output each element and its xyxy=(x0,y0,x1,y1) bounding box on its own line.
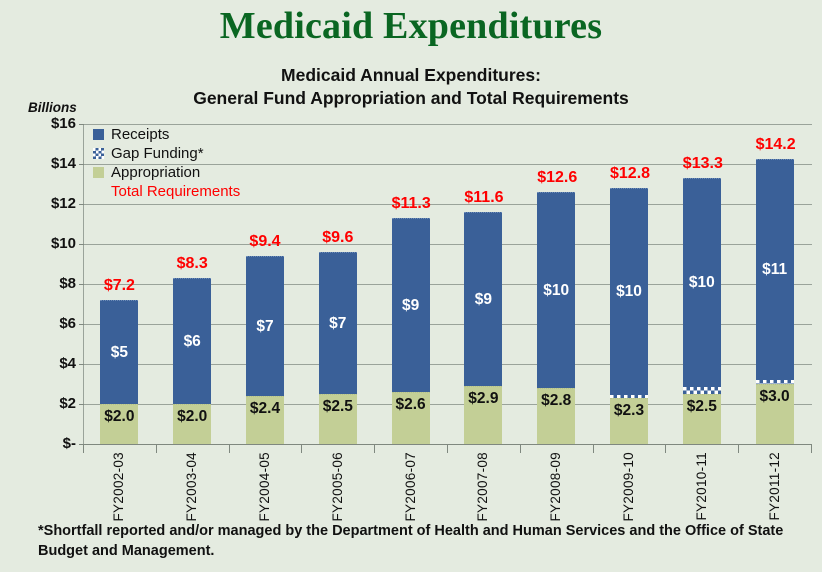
bar-label-appropriation: $2.0 xyxy=(173,408,211,426)
x-axis-tick xyxy=(665,444,666,453)
bar-label-total-requirements: $12.6 xyxy=(537,169,575,187)
y-axis-tick-label: $8 xyxy=(28,275,76,292)
bar-label-total-requirements: $7.2 xyxy=(100,277,138,295)
bar-label-receipts: $7 xyxy=(319,315,357,333)
x-axis-tick xyxy=(447,444,448,453)
y-axis-tick-label: $10 xyxy=(28,235,76,252)
legend-label: Gap Funding* xyxy=(111,144,204,163)
y-axis-labels: $-$2$4$6$8$10$12$14$16 xyxy=(22,124,76,444)
bar-label-appropriation: $2.4 xyxy=(246,400,284,418)
legend-item-total-requirements[interactable]: Total Requirements xyxy=(93,182,240,201)
bar-label-receipts: $9 xyxy=(464,291,502,309)
x-axis-label-fy2007-08: FY2007-08 xyxy=(475,452,490,522)
y-axis-tick xyxy=(79,324,84,325)
bar-label-total-requirements: $9.4 xyxy=(246,233,284,251)
y-axis-tick xyxy=(79,364,84,365)
y-axis-tick-label: $6 xyxy=(28,315,76,332)
x-axis-label-fy2009-10: FY2009-10 xyxy=(621,452,636,522)
bar-label-total-requirements: $8.3 xyxy=(173,255,211,273)
bar-group[interactable]: $3.0$11$14.2 xyxy=(756,124,794,444)
y-axis-tick-label: $2 xyxy=(28,395,76,412)
bar-label-total-requirements: $14.2 xyxy=(756,136,794,154)
x-axis-label-fy2008-09: FY2008-09 xyxy=(548,452,563,522)
bar-label-appropriation: $2.9 xyxy=(464,390,502,408)
chart-legend: ReceiptsGap Funding*AppropriationTotal R… xyxy=(93,125,240,201)
bar-segment-gap-funding[interactable] xyxy=(756,379,794,384)
bar-label-appropriation: $2.3 xyxy=(610,402,648,420)
bar-group[interactable]: $2.8$10$12.6 xyxy=(537,124,575,444)
bar-label-total-requirements: $13.3 xyxy=(683,155,721,173)
legend-item-gap-funding[interactable]: Gap Funding* xyxy=(93,144,240,163)
legend-swatch-icon xyxy=(93,167,104,178)
bar-segment-gap-funding[interactable] xyxy=(610,394,648,398)
bar-label-receipts: $6 xyxy=(173,333,211,351)
bar-label-appropriation: $3.0 xyxy=(756,388,794,406)
x-axis-label-fy2011-12: FY2011-12 xyxy=(767,452,782,521)
page-title: Medicaid Expenditures xyxy=(0,4,822,48)
bar-label-total-requirements: $9.6 xyxy=(319,229,357,247)
legend-label: Receipts xyxy=(111,125,169,144)
bar-group[interactable]: $2.5$10$13.3 xyxy=(683,124,721,444)
bar-group[interactable]: $2.9$9$11.6 xyxy=(464,124,502,444)
x-axis-label-fy2010-11: FY2010-11 xyxy=(694,452,709,521)
x-axis-label-fy2003-04: FY2003-04 xyxy=(184,452,199,522)
bar-label-receipts: $10 xyxy=(683,274,721,292)
x-axis-label-fy2004-05: FY2004-05 xyxy=(257,452,272,522)
bar-label-receipts: $10 xyxy=(537,282,575,300)
bar-label-receipts: $5 xyxy=(100,344,138,362)
legend-swatch-icon xyxy=(93,186,104,197)
bar-label-receipts: $10 xyxy=(610,283,648,301)
bar-label-appropriation: $2.8 xyxy=(537,392,575,410)
x-axis-tick xyxy=(229,444,230,453)
y-axis-units-label: Billions xyxy=(28,100,77,115)
x-axis-tick xyxy=(374,444,375,453)
bar-label-appropriation: $2.5 xyxy=(683,398,721,416)
footnote-line-1: *Shortfall reported and/or managed by th… xyxy=(38,521,798,541)
x-axis-label-fy2006-07: FY2006-07 xyxy=(403,452,418,522)
bar-label-appropriation: $2.5 xyxy=(319,398,357,416)
y-axis-tick-label: $4 xyxy=(28,355,76,372)
x-axis-tick xyxy=(156,444,157,453)
legend-swatch-icon xyxy=(93,129,104,140)
x-axis-label-fy2005-06: FY2005-06 xyxy=(330,452,345,522)
x-axis-tick xyxy=(811,444,812,453)
y-axis-tick xyxy=(79,164,84,165)
bar-label-receipts: $11 xyxy=(756,261,794,279)
x-axis-tick xyxy=(593,444,594,453)
bar-label-total-requirements: $11.3 xyxy=(392,195,430,213)
chart-title-line-2: General Fund Appropriation and Total Req… xyxy=(0,87,822,110)
bar-group[interactable]: $2.6$9$11.3 xyxy=(392,124,430,444)
bar-group[interactable]: $2.3$10$12.8 xyxy=(610,124,648,444)
y-axis-tick xyxy=(79,244,84,245)
x-axis-tick xyxy=(301,444,302,453)
y-axis-tick xyxy=(79,404,84,405)
x-axis-tick xyxy=(520,444,521,453)
bar-segment-gap-funding[interactable] xyxy=(683,386,721,394)
legend-item-receipts[interactable]: Receipts xyxy=(93,125,240,144)
y-axis-tick xyxy=(79,124,84,125)
footnote: *Shortfall reported and/or managed by th… xyxy=(38,521,798,561)
x-axis-tick xyxy=(738,444,739,453)
y-axis-tick-label: $- xyxy=(28,435,76,452)
chart-title-line-1: Medicaid Annual Expenditures: xyxy=(0,64,822,87)
y-axis-tick-label: $16 xyxy=(28,115,76,132)
legend-label: Total Requirements xyxy=(111,182,240,201)
footnote-line-2: Budget and Management. xyxy=(38,541,798,561)
x-axis-tick xyxy=(83,444,84,453)
bar-label-appropriation: $2.6 xyxy=(392,396,430,414)
bar-label-total-requirements: $12.8 xyxy=(610,165,648,183)
bar-label-receipts: $7 xyxy=(246,318,284,336)
y-axis-tick-label: $12 xyxy=(28,195,76,212)
legend-item-appropriation[interactable]: Appropriation xyxy=(93,163,240,182)
bar-label-appropriation: $2.0 xyxy=(100,408,138,426)
x-axis-label-fy2002-03: FY2002-03 xyxy=(111,452,126,522)
legend-label: Appropriation xyxy=(111,163,200,182)
legend-swatch-icon xyxy=(93,148,104,159)
bar-group[interactable]: $2.4$7$9.4 xyxy=(246,124,284,444)
y-axis-tick xyxy=(79,284,84,285)
y-axis-tick-label: $14 xyxy=(28,155,76,172)
bar-group[interactable]: $2.5$7$9.6 xyxy=(319,124,357,444)
chart-title: Medicaid Annual Expenditures: General Fu… xyxy=(0,64,822,110)
bar-label-total-requirements: $11.6 xyxy=(464,189,502,207)
bar-label-receipts: $9 xyxy=(392,297,430,315)
y-axis-tick xyxy=(79,204,84,205)
